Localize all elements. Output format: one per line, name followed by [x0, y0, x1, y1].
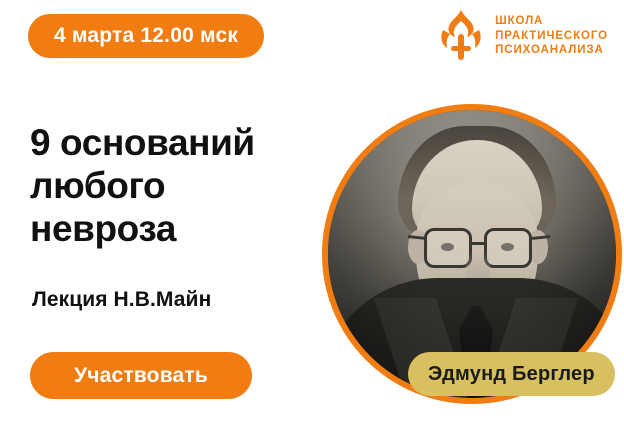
date-badge: 4 марта 12.00 мск — [28, 14, 264, 58]
flame-trident-icon — [437, 8, 485, 64]
poster-root: 4 марта 12.00 мск ШКОЛА ПРАКТИЧЕСКОГО ПС… — [0, 0, 624, 421]
portrait-glasses-left — [424, 228, 472, 268]
participate-button[interactable]: Участвовать — [30, 352, 252, 399]
lecture-subtitle: Лекция Н.В.Майн — [32, 288, 211, 312]
logo-line-3: ПСИХОАНАЛИЗА — [495, 44, 608, 57]
headline-line-3: невроза — [30, 207, 360, 250]
headline-line-2: любого — [30, 164, 360, 207]
portrait-glasses-right — [484, 228, 532, 268]
page-title: 9 оснований любого невроза — [30, 121, 360, 251]
speaker-name-badge: Эдмунд Берглер — [408, 352, 615, 396]
logo-line-2: ПРАКТИЧЕСКОГО — [495, 30, 608, 43]
brand-logo: ШКОЛА ПРАКТИЧЕСКОГО ПСИХОАНАЛИЗА — [437, 8, 608, 64]
logo-line-1: ШКОЛА — [495, 15, 608, 28]
portrait-glasses-bridge — [472, 242, 484, 245]
brand-logo-text: ШКОЛА ПРАКТИЧЕСКОГО ПСИХОАНАЛИЗА — [495, 15, 608, 58]
headline-line-1: 9 оснований — [30, 121, 360, 164]
